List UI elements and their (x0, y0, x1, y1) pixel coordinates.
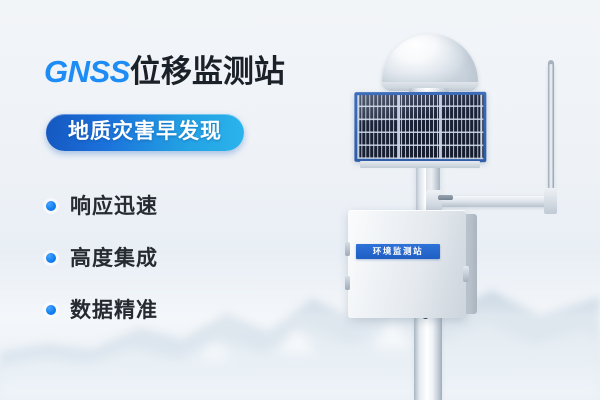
banner-canvas: 环境监测站 GNSS位移监测站 地质灾害早发现 响应迅速 高度集成 数据精准 (0, 0, 600, 400)
enclosure-latch (463, 266, 469, 282)
instrument-enclosure (348, 210, 466, 318)
feature-label: 高度集成 (70, 248, 158, 269)
bullet-dot-icon (46, 305, 56, 315)
enclosure-side-panel (466, 214, 477, 314)
whip-antenna (548, 64, 554, 196)
page-title-en: GNSS (44, 54, 130, 89)
arm-fastener-icon (438, 195, 453, 200)
feature-list: 响应迅速 高度集成 数据精准 (46, 180, 286, 336)
arm-bracket-right (544, 188, 557, 214)
gnss-dome-antenna (382, 34, 478, 88)
mast-pole-lower (414, 318, 442, 400)
gnss-monitoring-station: 环境监测站 (330, 18, 590, 400)
enclosure-label-text: 环境监测站 (373, 247, 424, 256)
list-item: 高度集成 (46, 232, 286, 284)
bullet-dot-icon (46, 253, 56, 263)
enclosure-hinge-top (345, 242, 350, 256)
feature-label: 响应迅速 (70, 196, 158, 217)
list-item: 数据精准 (46, 284, 286, 336)
bullet-dot-icon (46, 201, 56, 211)
enclosure-hinge-bottom (345, 276, 350, 290)
enclosure-label: 环境监测站 (356, 244, 440, 259)
page-title: GNSS位移监测站 (44, 56, 285, 87)
tagline-badge-text: 地质灾害早发现 (68, 120, 222, 143)
page-title-cn: 位移监测站 (130, 54, 285, 89)
list-item: 响应迅速 (46, 180, 286, 232)
solar-cells (357, 95, 483, 159)
tagline-badge[interactable]: 地质灾害早发现 (46, 114, 244, 151)
feature-label: 数据精准 (70, 300, 158, 321)
solar-panel-mount (360, 161, 480, 168)
arm-bracket-left (426, 190, 442, 212)
solar-panel (354, 92, 486, 162)
